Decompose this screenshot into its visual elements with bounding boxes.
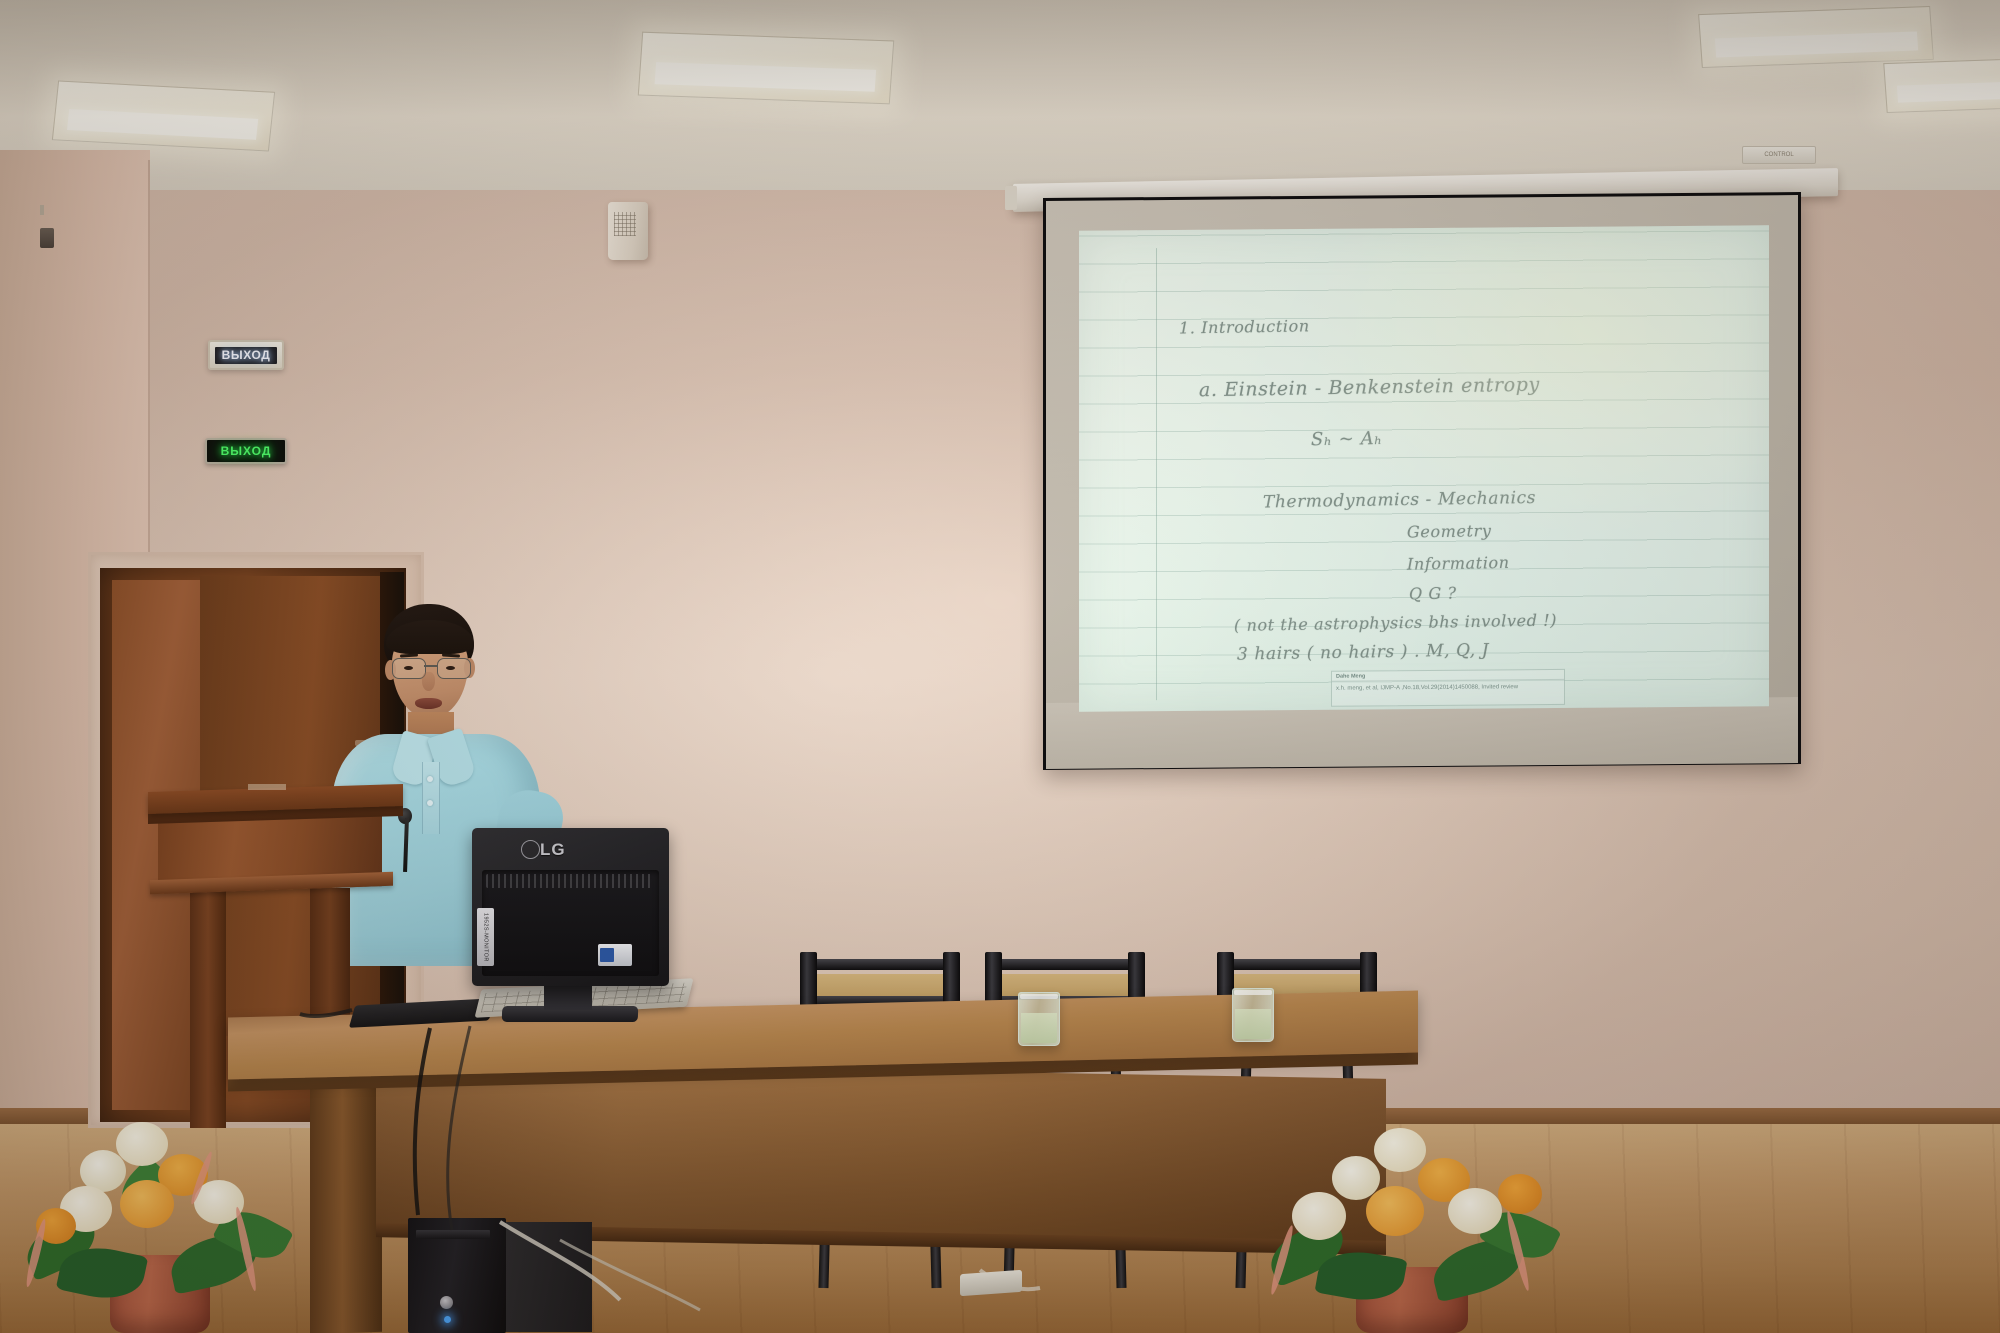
flower-white [116, 1122, 168, 1166]
chair-rail-top [999, 959, 1131, 970]
lg-logo-mark-icon [521, 840, 540, 859]
water-glass[interactable] [1018, 992, 1060, 1046]
projected-slide: 1. Introduction a. Einstein - Benkenstei… [1079, 225, 1769, 711]
lecture-hall-photo: ВЫХОД ВЫХОД CONTROL 1. Introduction a. E… [0, 0, 2000, 1333]
water-glass[interactable] [1232, 988, 1274, 1042]
pc-tower-side [506, 1222, 592, 1332]
pc-optical-bay[interactable] [416, 1230, 490, 1239]
exit-sign-upper-label: ВЫХОД [222, 348, 271, 362]
flower-white [1374, 1128, 1426, 1172]
chair-seat [816, 974, 944, 996]
exit-sign-lower: ВЫХОД [205, 438, 287, 464]
speaker-bracket [40, 205, 44, 215]
glass-rim [1020, 994, 1058, 999]
shirt-placket [422, 762, 440, 834]
exit-sign-lower-label: ВЫХОД [221, 444, 272, 458]
presenter-mouth [415, 698, 442, 709]
ir-receiver-label: CONTROL [1764, 152, 1793, 158]
glass-rim [1234, 990, 1272, 995]
flower-white [1292, 1192, 1346, 1240]
chair-rail-top [814, 959, 946, 970]
power-button[interactable] [440, 1296, 453, 1309]
presenter-eye-right [446, 666, 455, 670]
wall-sensor [40, 228, 54, 248]
exit-sign-upper: ВЫХОД [208, 340, 284, 370]
presenter-nose [422, 672, 435, 691]
pc-tower[interactable] [408, 1218, 506, 1333]
flower-orange [120, 1180, 174, 1228]
podium-leg-left [190, 888, 226, 1128]
glasses-bridge [424, 665, 437, 667]
monitor-vent [486, 874, 654, 888]
flower-arrangement-right [1262, 1118, 1562, 1333]
monitor-brand-label: LG [540, 840, 566, 860]
presenter-eye-left [404, 666, 413, 670]
monitor-side-label: 1952S-MONITOR [477, 908, 494, 966]
glass-water [1235, 1009, 1271, 1039]
flower-orange [1498, 1174, 1542, 1214]
power-led-icon [444, 1316, 451, 1323]
flower-orange [1366, 1186, 1424, 1236]
power-strip[interactable] [960, 1270, 1022, 1296]
screen-housing-cap [1005, 186, 1017, 210]
glass-water [1021, 1013, 1057, 1043]
flower-white [1448, 1188, 1502, 1234]
table-leg-left [310, 1065, 382, 1333]
chair-rail-top [1231, 959, 1363, 970]
speaker-mesh-icon [614, 212, 636, 236]
wall-speaker [608, 202, 648, 260]
shirt-button [427, 776, 433, 782]
monitor-sticker-badge [600, 948, 614, 962]
flower-arrangement-left [20, 1098, 300, 1333]
shirt-button [427, 800, 433, 806]
table-front-shading [376, 1061, 1386, 1247]
podium-sign [248, 784, 286, 790]
ir-receiver: CONTROL [1742, 146, 1816, 164]
screen-glare [1079, 225, 1769, 711]
